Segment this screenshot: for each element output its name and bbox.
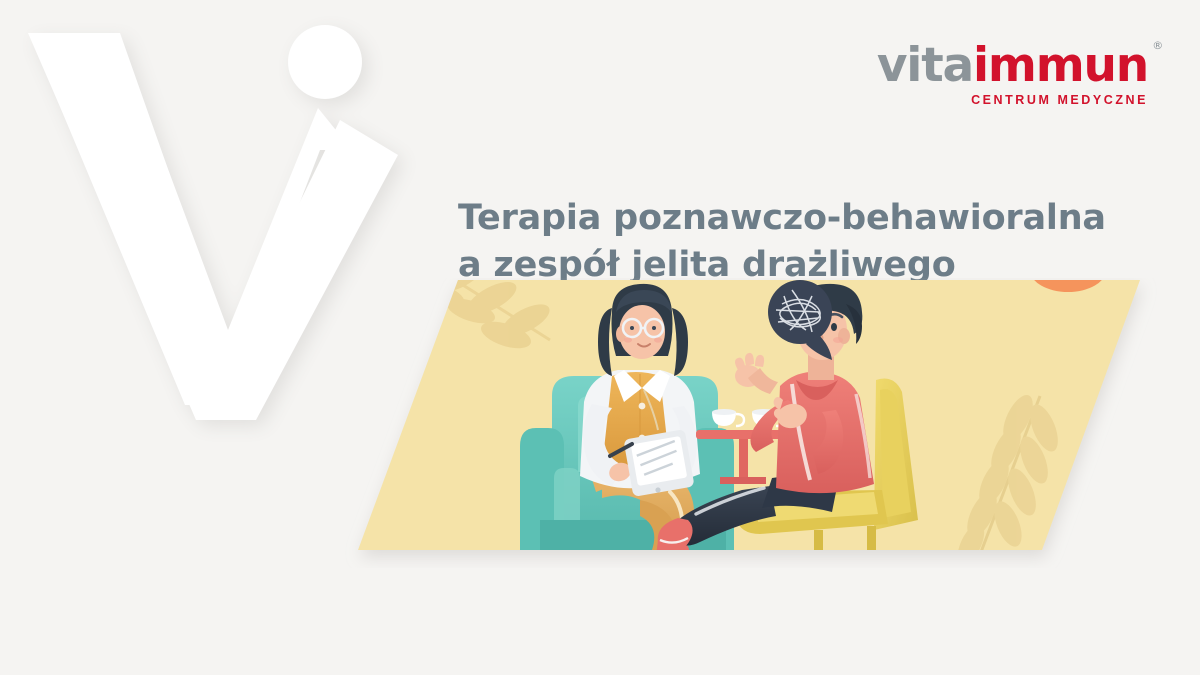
therapist-face — [619, 305, 665, 359]
logo-tagline: CENTRUM MEDYCZNE — [877, 94, 1148, 107]
therapy-session-illustration — [340, 278, 1160, 568]
vitaimmun-logo[interactable]: vitaimmun® CENTRUM MEDYCZNE — [877, 42, 1148, 107]
therapist-tablet — [623, 429, 694, 497]
watermark-i-dot — [288, 25, 362, 99]
logo-immun-label: immun — [973, 38, 1148, 93]
logo-wordmark: vitaimmun® — [877, 42, 1148, 89]
registered-trademark-icon: ® — [1152, 40, 1162, 51]
watermark-v-shape — [30, 35, 352, 405]
banner-canvas: vitaimmun® CENTRUM MEDYCZNE Terapia pozn… — [0, 0, 1200, 675]
logo-immun-text: immun® — [973, 42, 1148, 89]
logo-vita-text: vita — [877, 42, 973, 89]
page-title: Terapia poznawczo-behawioralna a zespół … — [458, 195, 1118, 287]
page-title-line-1: Terapia poznawczo-behawioralna — [458, 195, 1118, 241]
